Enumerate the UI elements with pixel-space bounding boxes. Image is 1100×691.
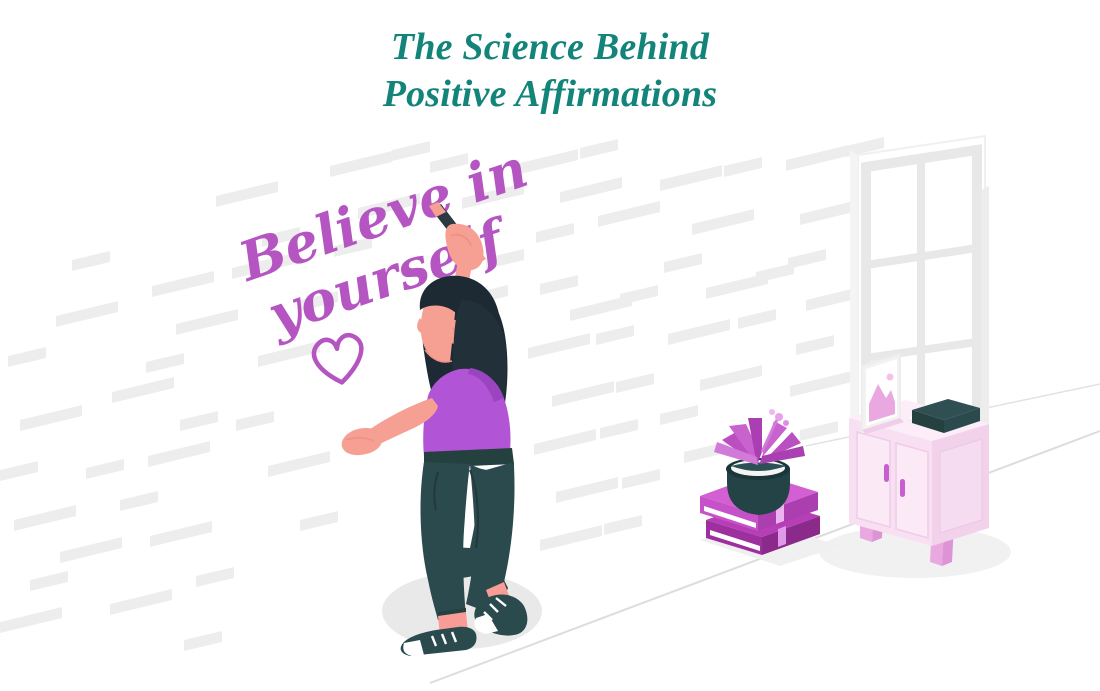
picture-frame bbox=[862, 354, 904, 434]
scene-illustration: Believe in yourself bbox=[0, 0, 1100, 691]
illustration-page: The Science Behind Positive Affirmations bbox=[0, 0, 1100, 691]
cabinet-handle-right[interactable] bbox=[900, 479, 905, 497]
cabinet-side-panel bbox=[940, 439, 982, 533]
cabinet-handle-left[interactable] bbox=[884, 464, 889, 482]
